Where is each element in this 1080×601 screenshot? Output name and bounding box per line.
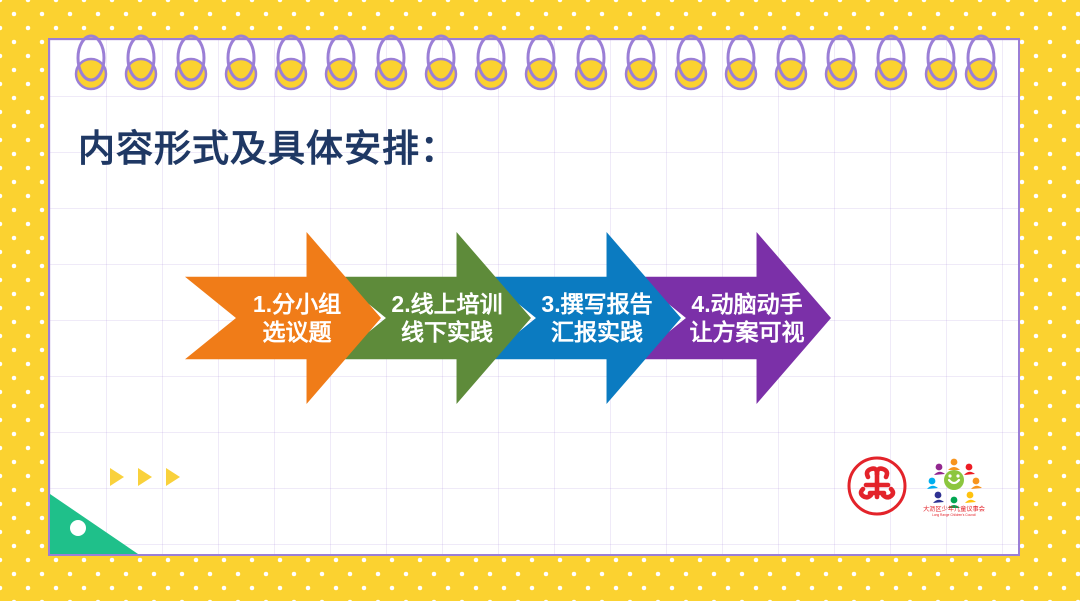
fold-corner-icon <box>50 494 138 554</box>
process-step-2-label: 2.线上培训 线下实践 <box>391 290 502 346</box>
process-step-4-line1: 4.动脑动手 <box>691 291 802 317</box>
process-step-2-line1: 2.线上培训 <box>391 291 502 317</box>
council-logo-caption-en: Long Range Children's Council <box>932 513 976 517</box>
process-step-2-line2: 线下实践 <box>391 318 502 346</box>
play-marks-decoration <box>110 468 180 486</box>
process-step-1-line1: 1.分小组 <box>253 291 341 317</box>
process-step-4-label: 4.动脑动手 让方案可视 <box>690 290 805 346</box>
process-step-1[interactable]: 1.分小组 选议题 <box>185 232 381 404</box>
play-triangle-icon <box>110 468 124 486</box>
folded-corner-decoration <box>50 494 138 554</box>
process-arrow-row: 4.动脑动手 让方案可视 3.撰写报告 汇报实践 2.线上培训 线下实践 1.分… <box>185 232 845 404</box>
council-logo-caption-cn: 大沥区少年儿童议事会 <box>923 505 985 513</box>
play-triangle-icon <box>138 468 152 486</box>
play-triangle-icon <box>166 468 180 486</box>
process-step-4-line2: 让方案可视 <box>690 318 805 346</box>
logo-group: 大沥区少年儿童议事会 Long Range Children's Council <box>846 455 988 517</box>
process-step-3-label: 3.撰写报告 汇报实践 <box>541 290 652 346</box>
children-council-logo-icon: 大沥区少年儿童议事会 Long Range Children's Council <box>920 455 988 517</box>
slide-canvas: 内容形式及具体安排： 4.动脑动手 让方案可视 3.撰写报告 汇报实践 2.线上… <box>0 0 1080 601</box>
process-step-3-line1: 3.撰写报告 <box>541 291 652 317</box>
fold-corner-dot <box>70 520 86 536</box>
process-step-1-line2: 选议题 <box>253 318 341 346</box>
process-step-3-line2: 汇报实践 <box>541 318 652 346</box>
red-circular-emblem-icon <box>846 455 908 517</box>
page-title: 内容形式及具体安排： <box>78 118 458 172</box>
process-step-1-label: 1.分小组 选议题 <box>253 290 341 346</box>
